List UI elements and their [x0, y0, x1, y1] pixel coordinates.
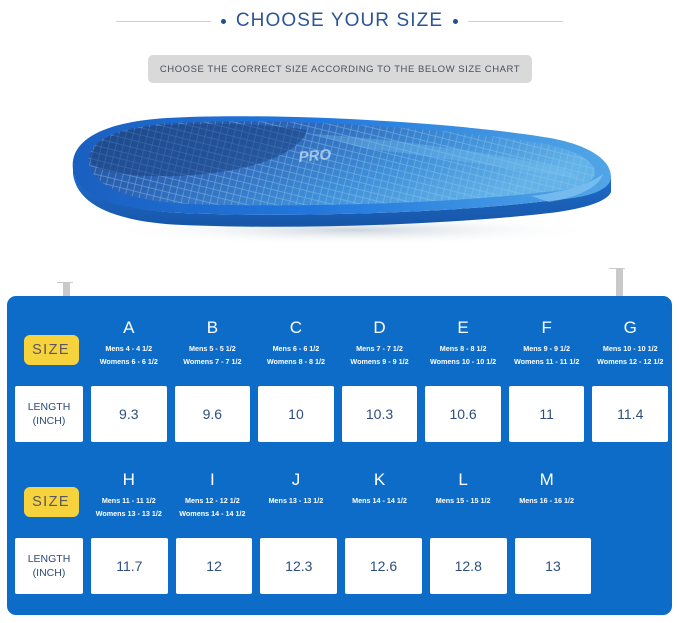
- size-letter-i: I: [171, 470, 255, 490]
- size-womens-h: Womens 13 - 13 1/2: [87, 507, 171, 520]
- size-column-k: K Mens 14 - 14 1/2: [338, 466, 422, 507]
- length-label-1: LENGTH (INCH): [15, 386, 83, 442]
- size-column-f: F Mens 9 - 9 1/2 Womens 11 - 11 1/2: [505, 314, 589, 368]
- size-badge-cell-2: SIZE: [15, 466, 87, 538]
- length-cell-g: 11.4: [588, 386, 672, 442]
- length-label-2: LENGTH (INCH): [15, 538, 83, 594]
- size-womens-g: Womens 12 - 12 1/2: [588, 355, 672, 368]
- length-cell-j: 12.3: [256, 538, 341, 594]
- size-badge-1: SIZE: [24, 335, 79, 365]
- size-womens-e: Womens 10 - 10 1/2: [421, 355, 505, 368]
- length-row-1: LENGTH (INCH) 9.3 9.6 10 10.3 10.6 11: [7, 386, 672, 442]
- size-letter-d: D: [338, 318, 422, 338]
- size-womens-b: Womens 7 - 7 1/2: [171, 355, 255, 368]
- title-rule-left: [116, 21, 211, 22]
- length-cell-f: 11: [505, 386, 589, 442]
- size-womens-d: Womens 9 - 9 1/2: [338, 355, 422, 368]
- size-column-a: A Mens 4 - 4 1/2 Womens 6 - 6 1/2: [87, 314, 171, 368]
- title-dot-right-icon: [453, 19, 458, 24]
- size-letter-k: K: [338, 470, 422, 490]
- svg-text:PRO: PRO: [298, 146, 332, 166]
- size-mens-l: Mens 15 - 15 1/2: [421, 494, 505, 507]
- length-value-a: 9.3: [91, 386, 167, 442]
- size-chart-panel: SIZE A Mens 4 - 4 1/2 Womens 6 - 6 1/2 B…: [7, 296, 672, 615]
- length-cell-c: 10: [254, 386, 338, 442]
- size-mens-c: Mens 6 - 6 1/2: [254, 342, 338, 355]
- length-label-cell-2: LENGTH (INCH): [15, 538, 87, 594]
- size-column-l: L Mens 15 - 15 1/2: [421, 466, 505, 507]
- size-mens-j: Mens 13 - 13 1/2: [254, 494, 338, 507]
- length-value-h: 11.7: [91, 538, 168, 594]
- size-mens-b: Mens 5 - 5 1/2: [171, 342, 255, 355]
- size-column-h: H Mens 11 - 11 1/2 Womens 13 - 13 1/2: [87, 466, 171, 520]
- length-label-line1: LENGTH: [28, 552, 71, 566]
- size-letter-b: B: [171, 318, 255, 338]
- size-mens-d: Mens 7 - 7 1/2: [338, 342, 422, 355]
- size-badge-2: SIZE: [24, 487, 79, 517]
- size-mens-f: Mens 9 - 9 1/2: [505, 342, 589, 355]
- size-letter-a: A: [87, 318, 171, 338]
- length-value-k: 12.6: [345, 538, 422, 594]
- length-label-line2: (INCH): [33, 566, 66, 580]
- length-value-d: 10.3: [342, 386, 418, 442]
- size-mens-g: Mens 10 - 10 1/2: [588, 342, 672, 355]
- size-mens-i: Mens 12 - 12 1/2: [171, 494, 255, 507]
- size-mens-e: Mens 8 - 8 1/2: [421, 342, 505, 355]
- size-badge-cell-1: SIZE: [15, 314, 87, 386]
- measure-tick-left: [57, 282, 73, 283]
- instruction-banner-text: CHOOSE THE CORRECT SIZE ACCORDING TO THE…: [160, 64, 520, 75]
- page-title: CHOOSE YOUR SIZE: [236, 10, 443, 32]
- size-header-row-2: SIZE H Mens 11 - 11 1/2 Womens 13 - 13 1…: [7, 466, 672, 538]
- instruction-banner: CHOOSE THE CORRECT SIZE ACCORDING TO THE…: [148, 55, 532, 83]
- length-label-line2: (INCH): [33, 414, 66, 428]
- length-value-b: 9.6: [175, 386, 251, 442]
- size-letter-e: E: [421, 318, 505, 338]
- length-cell-b: 9.6: [171, 386, 255, 442]
- length-cell-empty: [595, 538, 672, 594]
- size-column-c: C Mens 6 - 6 1/2 Womens 8 - 8 1/2: [254, 314, 338, 368]
- size-column-j: J Mens 13 - 13 1/2: [254, 466, 338, 507]
- length-value-e: 10.6: [425, 386, 501, 442]
- size-column-b: B Mens 5 - 5 1/2 Womens 7 - 7 1/2: [171, 314, 255, 368]
- insole-product-image: PRO: [63, 112, 617, 247]
- length-cell-k: 12.6: [341, 538, 426, 594]
- length-cell-i: 12: [172, 538, 257, 594]
- size-mens-h: Mens 11 - 11 1/2: [87, 494, 171, 507]
- length-value-g: 11.4: [592, 386, 668, 442]
- insole-illustration: PRO THE LENGTH OF INSOLES: [0, 96, 679, 286]
- length-cell-m: 13: [511, 538, 596, 594]
- length-cell-h: 11.7: [87, 538, 172, 594]
- title-dot-left-icon: [221, 19, 226, 24]
- size-womens-i: Womens 14 - 14 1/2: [171, 507, 255, 520]
- length-cell-e: 10.6: [421, 386, 505, 442]
- size-womens-c: Womens 8 - 8 1/2: [254, 355, 338, 368]
- size-letter-j: J: [254, 470, 338, 490]
- size-letter-m: M: [505, 470, 589, 490]
- size-column-m: M Mens 16 - 16 1/2: [505, 466, 589, 507]
- size-column-g: G Mens 10 - 10 1/2 Womens 12 - 12 1/2: [588, 314, 672, 368]
- size-womens-f: Womens 11 - 11 1/2: [505, 355, 589, 368]
- measure-tick-right: [609, 268, 625, 269]
- size-letter-l: L: [421, 470, 505, 490]
- length-cell-a: 9.3: [87, 386, 171, 442]
- length-row-2: LENGTH (INCH) 11.7 12 12.3 12.6 12.8 13: [7, 538, 672, 594]
- size-letter-f: F: [505, 318, 589, 338]
- length-value-m: 13: [515, 538, 592, 594]
- size-mens-k: Mens 14 - 14 1/2: [338, 494, 422, 507]
- page-title-row: CHOOSE YOUR SIZE: [0, 8, 679, 34]
- size-mens-a: Mens 4 - 4 1/2: [87, 342, 171, 355]
- title-rule-right: [468, 21, 563, 22]
- length-value-l: 12.8: [430, 538, 507, 594]
- size-letter-c: C: [254, 318, 338, 338]
- length-value-j: 12.3: [260, 538, 337, 594]
- length-label-cell-1: LENGTH (INCH): [15, 386, 87, 442]
- length-value-c: 10: [258, 386, 334, 442]
- length-cell-d: 10.3: [338, 386, 422, 442]
- size-mens-m: Mens 16 - 16 1/2: [505, 494, 589, 507]
- size-letter-g: G: [588, 318, 672, 338]
- length-cell-l: 12.8: [426, 538, 511, 594]
- size-column-d: D Mens 7 - 7 1/2 Womens 9 - 9 1/2: [338, 314, 422, 368]
- size-chart-block-2: SIZE H Mens 11 - 11 1/2 Womens 13 - 13 1…: [7, 466, 672, 594]
- size-womens-a: Womens 6 - 6 1/2: [87, 355, 171, 368]
- length-value-i: 12: [176, 538, 253, 594]
- size-column-empty: [588, 466, 672, 470]
- size-letter-h: H: [87, 470, 171, 490]
- size-chart-block-1: SIZE A Mens 4 - 4 1/2 Womens 6 - 6 1/2 B…: [7, 314, 672, 442]
- size-column-e: E Mens 8 - 8 1/2 Womens 10 - 10 1/2: [421, 314, 505, 368]
- length-label-line1: LENGTH: [28, 400, 71, 414]
- size-column-i: I Mens 12 - 12 1/2 Womens 14 - 14 1/2: [171, 466, 255, 520]
- size-header-row-1: SIZE A Mens 4 - 4 1/2 Womens 6 - 6 1/2 B…: [7, 314, 672, 386]
- length-value-f: 11: [509, 386, 585, 442]
